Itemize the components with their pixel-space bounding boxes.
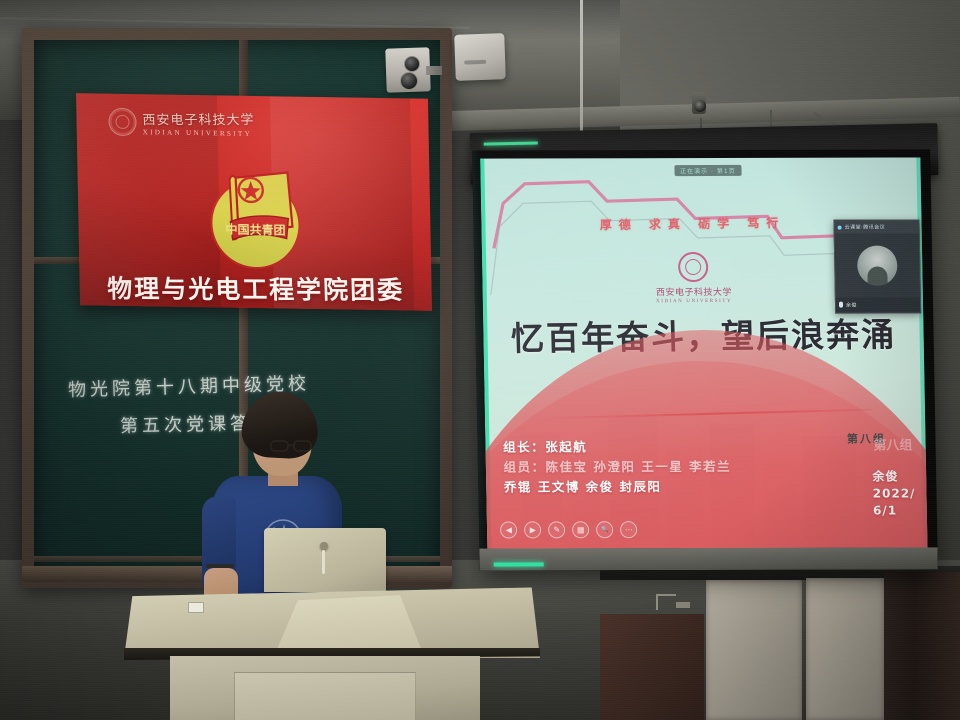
wall-speaker — [454, 33, 506, 81]
banner-organization: 物理与光电工程学院团委 — [79, 269, 432, 307]
slide-presenter-name: 余俊 — [872, 468, 915, 485]
video-panel-body — [835, 234, 920, 298]
microphone-icon — [839, 302, 843, 308]
video-panel-footer: 余俊 — [836, 298, 920, 312]
camera-lens-icon — [404, 56, 420, 72]
slide-date-block: 余俊 2022/ 6/1 — [872, 468, 916, 520]
side-camera-lens-icon — [694, 100, 706, 112]
camera-lens-icon — [400, 72, 418, 90]
slide-member-line: 组员：陈佳宝 孙澄阳 王一星 李若兰 — [503, 457, 731, 478]
podium-knob[interactable] — [320, 542, 328, 550]
presentation-slide[interactable]: 正在演示 · 第1页 厚德 求真 砺学 笃行 西安电子科技大学 XIDIAN U… — [480, 157, 927, 548]
participant-avatar — [857, 246, 898, 286]
video-panel-title: 云课堂·腾讯会议 — [845, 224, 886, 231]
slide-university-logo: 西安电子科技大学 XIDIAN UNIVERSITY — [655, 252, 732, 304]
podium-cabinet-door[interactable] — [234, 672, 416, 720]
status-led — [484, 141, 538, 145]
video-panel-header: 云课堂·腾讯会议 — [834, 221, 918, 234]
participant-name: 余俊 — [846, 301, 857, 308]
video-status-dot-icon — [838, 226, 842, 230]
podium — [124, 528, 540, 720]
slide-date-line-2: 6/1 — [873, 503, 916, 520]
slide-menu-icon[interactable]: ▦ — [572, 522, 589, 539]
wall-panel — [806, 578, 884, 720]
red-banner: 西安电子科技大学 XIDIAN UNIVERSITY 中国共青团 物理与光电工程… — [76, 93, 432, 311]
slide-faded-right-text: 第八组 — [873, 438, 912, 455]
slide-date-line-1: 2022/ — [873, 485, 916, 502]
zoom-tool-icon[interactable]: 🔍 — [596, 521, 613, 538]
microphone-rod — [580, 0, 583, 138]
university-motto: 厚德 求真 砺学 笃行 — [600, 213, 786, 232]
projection-screen: 正在演示 · 第1页 厚德 求真 砺学 笃行 西安电子科技大学 XIDIAN U… — [472, 149, 938, 570]
slide-leader-line: 组长：张起航 — [503, 436, 731, 457]
podium-label — [188, 602, 204, 613]
podium-monitor-panel — [264, 528, 386, 592]
slide-logo-en: XIDIAN UNIVERSITY — [656, 299, 732, 304]
wall-bracket — [656, 594, 676, 610]
podium-cable — [322, 550, 325, 574]
eyeglasses-icon — [270, 439, 314, 452]
slide-watermark: 正在演示 · 第1页 — [674, 165, 742, 176]
wall-panel-dark — [600, 614, 704, 720]
pen-tool-icon[interactable]: ✎ — [548, 522, 565, 539]
camera-mount-arm — [426, 66, 442, 75]
wall-fitting — [676, 602, 690, 608]
wall-panel — [706, 580, 802, 720]
door-strip — [884, 572, 960, 720]
slide-member-line-2: 乔锟 王文博 余俊 封辰阳 — [504, 477, 732, 498]
university-seal-icon — [678, 252, 709, 282]
slide-member-block: 组长：张起航 组员：陈佳宝 孙澄阳 王一星 李若兰 乔锟 王文博 余俊 封辰阳 — [503, 436, 732, 497]
video-conference-panel[interactable]: 云课堂·腾讯会议 余俊 — [833, 220, 921, 314]
slide-logo-cn: 西安电子科技大学 — [656, 285, 732, 298]
more-options-icon[interactable]: ⋯ — [620, 521, 637, 538]
screen-bottom-bar — [479, 547, 937, 570]
classroom-photo-scene: 物光院第十八期中级党校 第五次党课答辩 西安电子科技大学 XIDIAN UNIV… — [0, 0, 960, 720]
